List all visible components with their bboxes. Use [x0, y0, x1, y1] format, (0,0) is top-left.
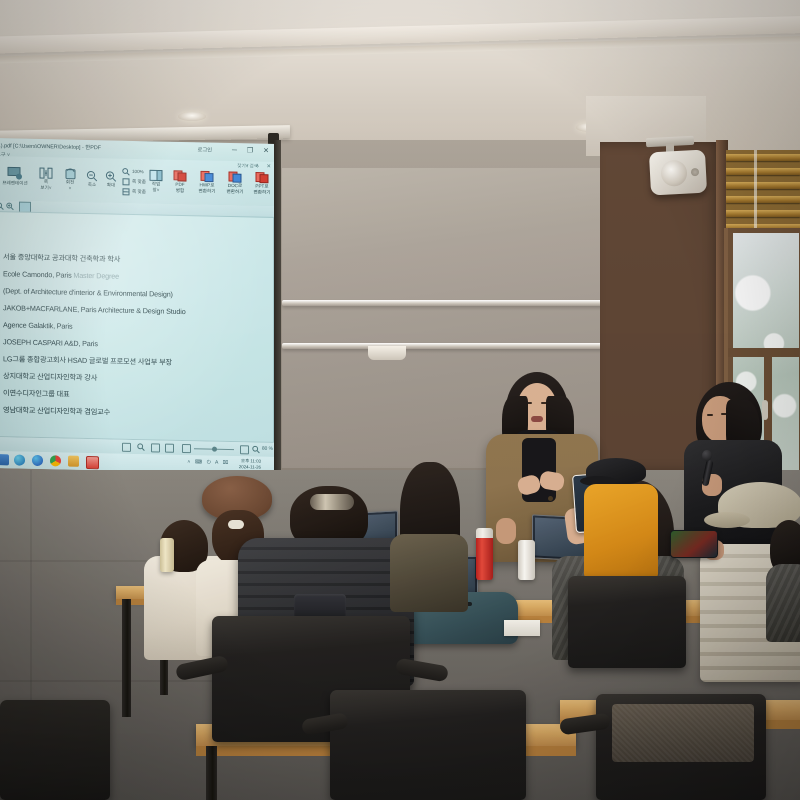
- ribbon-page-view[interactable]: 쪽보기˅: [36, 167, 56, 191]
- slide-line: LG그룹 종합광고회사 HSAD 글로벌 프로모션 사업부 부장: [3, 354, 172, 368]
- beverage-cup[interactable]: [160, 538, 174, 572]
- fit-page-icon: [122, 178, 130, 186]
- ribbon-rotate[interactable]: 회전˅: [60, 167, 80, 191]
- zoom-level-icon[interactable]: [252, 445, 260, 453]
- ribbon-label: 쪽보기˅: [36, 179, 56, 191]
- audience-far-right: [770, 520, 800, 640]
- pdf-merge-icon: [173, 170, 187, 182]
- whiteboard-rail: [282, 343, 642, 349]
- ribbon-label: PPT로변환하기: [250, 183, 274, 195]
- ribbon-task-pane[interactable]: 작업창˅: [146, 169, 166, 193]
- slide-line: 서울 중앙대학교 공과대학 건축학과 학사: [3, 252, 120, 264]
- hair-clip: [310, 494, 354, 510]
- audience-orange: [580, 458, 668, 578]
- slide-line: 상지대학교 산업디자인학과 강사: [3, 371, 97, 383]
- fit-icon[interactable]: [182, 444, 191, 453]
- presentation-icon: [7, 166, 23, 180]
- desk-leg: [206, 746, 217, 800]
- slide-line: JAKOB+MACFARLANE, Paris Architecture & D…: [3, 303, 186, 316]
- lecture-hall-photo: (1).pdf [C:\Users\OWNER\Desktop] - 한PDF …: [0, 0, 800, 800]
- ribbon-label: 회전˅: [60, 179, 80, 191]
- whiteboard-rail: [282, 300, 642, 306]
- ribbon-label: PDF병합: [170, 182, 190, 194]
- zoom-out-icon[interactable]: [0, 202, 4, 210]
- task-pane-icon: [149, 169, 163, 181]
- ribbon-label: 프레젠테이션: [0, 180, 32, 186]
- hand-lower: [496, 518, 516, 544]
- chair[interactable]: [0, 700, 110, 800]
- notebook[interactable]: [504, 620, 540, 636]
- hanpdf-icon[interactable]: [86, 456, 99, 469]
- convert-doc-icon: [228, 171, 242, 183]
- eye: [707, 414, 713, 416]
- orange-jacket: [584, 484, 658, 578]
- chrome-icon[interactable]: [50, 455, 61, 466]
- chair[interactable]: [568, 576, 686, 668]
- desk-leg: [122, 599, 131, 717]
- olive-jacket: [390, 534, 468, 612]
- audience-longhair: [390, 462, 468, 612]
- slide-line: Agence Galaktik, Paris: [3, 320, 72, 330]
- ribbon-pdf-merge[interactable]: PDF병합: [170, 170, 190, 194]
- projection-screen: (1).pdf [C:\Users\OWNER\Desktop] - 한PDF …: [0, 138, 276, 474]
- clock-date: 2024-11-26: [239, 464, 261, 470]
- rotate-icon: [64, 168, 77, 180]
- convert-ppt-icon: [255, 172, 269, 184]
- pdf-page: 서울 중앙대학교 공과대학 건축학과 학사 Ecole Camondo, Par…: [0, 211, 274, 443]
- ribbon-presentation[interactable]: 프레젠테이션: [0, 166, 32, 186]
- edge-dev-icon[interactable]: [32, 455, 43, 466]
- single-page-icon[interactable]: [151, 443, 160, 452]
- chair[interactable]: [330, 690, 526, 800]
- ribbon-zoom-presets[interactable]: 100% 쪽 맞춤 쪽 맞춤: [122, 168, 146, 197]
- zoom-in-icon[interactable]: [6, 202, 14, 210]
- speaker-tweeter-icon: [691, 168, 699, 176]
- two-page-icon[interactable]: [165, 444, 174, 453]
- fit-width-icon: [122, 188, 130, 196]
- slide-line: 영남대학교 산업디자인학과 겸임교수: [3, 405, 110, 417]
- mouth: [531, 416, 543, 422]
- jacket: [766, 564, 800, 642]
- ribbon-label: 작업창˅: [146, 181, 166, 193]
- pdf-window-title: (1).pdf [C:\Users\OWNER\Desktop] - 한PDF: [0, 142, 101, 153]
- marker-tray: [368, 346, 406, 360]
- zoom-percent-label: 80 %: [262, 447, 273, 452]
- ribbon-label: 쪽 맞춤: [132, 189, 146, 195]
- speaker-cone-icon: [660, 160, 687, 187]
- zoom-slider-knob[interactable]: [212, 446, 217, 451]
- convert-hwp-icon: [200, 170, 214, 182]
- thermos-cap: [476, 528, 493, 538]
- edge-icon[interactable]: [14, 454, 25, 465]
- white-tumbler[interactable]: [518, 540, 535, 580]
- ribbon-search-controls[interactable]: ˅ ˄ ✕: [245, 163, 274, 170]
- slide-line: Ecole Camondo, Paris Master Degree: [3, 269, 119, 280]
- chair-mesh-back: [612, 704, 754, 762]
- system-tray-icons[interactable]: ˄ ⌨ ⏻ A ⌧: [187, 459, 230, 466]
- fullscreen-icon[interactable]: [240, 445, 249, 454]
- cap-brim: [704, 512, 750, 528]
- zoom-100-icon: [122, 168, 130, 176]
- red-thermos[interactable]: [476, 534, 493, 580]
- ribbon-convert-doc[interactable]: DOC로변환하기: [222, 171, 248, 195]
- slide-line: 이연수디자인그룹 대표: [3, 388, 69, 399]
- search-icon[interactable]: [137, 443, 145, 451]
- ribbon-convert-ppt[interactable]: PPT로변환하기: [250, 171, 274, 195]
- ribbon-label: 100%: [132, 169, 144, 175]
- start-icon[interactable]: [0, 454, 9, 465]
- pdf-ribbon: 찾기 / 검색 ˅ ˄ ✕ 프레젠테이션 쪽보기˅: [0, 156, 276, 207]
- downlight-icon: [178, 112, 206, 121]
- ribbon-label: HWP로변환하기: [194, 182, 220, 194]
- taskbar-clock[interactable]: 오후 11:03 2024-11-26: [239, 458, 261, 470]
- microphone-head: [702, 450, 712, 461]
- page-view-icon: [39, 167, 53, 179]
- ribbon-label: 확대: [103, 182, 119, 188]
- phone-landscape[interactable]: [670, 530, 718, 558]
- slide-line: (Dept. of Architecture d'interior & Envi…: [3, 286, 173, 299]
- slide-line: JOSEPH CASPARI A&D, Paris: [3, 337, 98, 348]
- explorer-icon[interactable]: [68, 456, 79, 467]
- window-controls[interactable]: ─ ❐ ✕: [232, 146, 273, 156]
- projection-screen-frame: [274, 140, 281, 470]
- select-icon[interactable]: [122, 443, 131, 452]
- ribbon-label: 축소: [84, 182, 100, 188]
- ribbon-label: 쪽 맞춤: [132, 179, 146, 185]
- login-button[interactable]: 로그인: [198, 146, 212, 155]
- zoom-in-icon: [105, 170, 117, 182]
- zoom-out-icon: [86, 170, 98, 182]
- ceiling-speaker: [649, 150, 707, 196]
- ribbon-convert-hwp[interactable]: HWP로변환하기: [194, 170, 220, 194]
- ribbon-zoom-out[interactable]: 축소: [84, 170, 100, 188]
- ribbon-zoom-in[interactable]: 확대: [103, 170, 119, 188]
- ribbon-label: DOC로변환하기: [222, 183, 248, 195]
